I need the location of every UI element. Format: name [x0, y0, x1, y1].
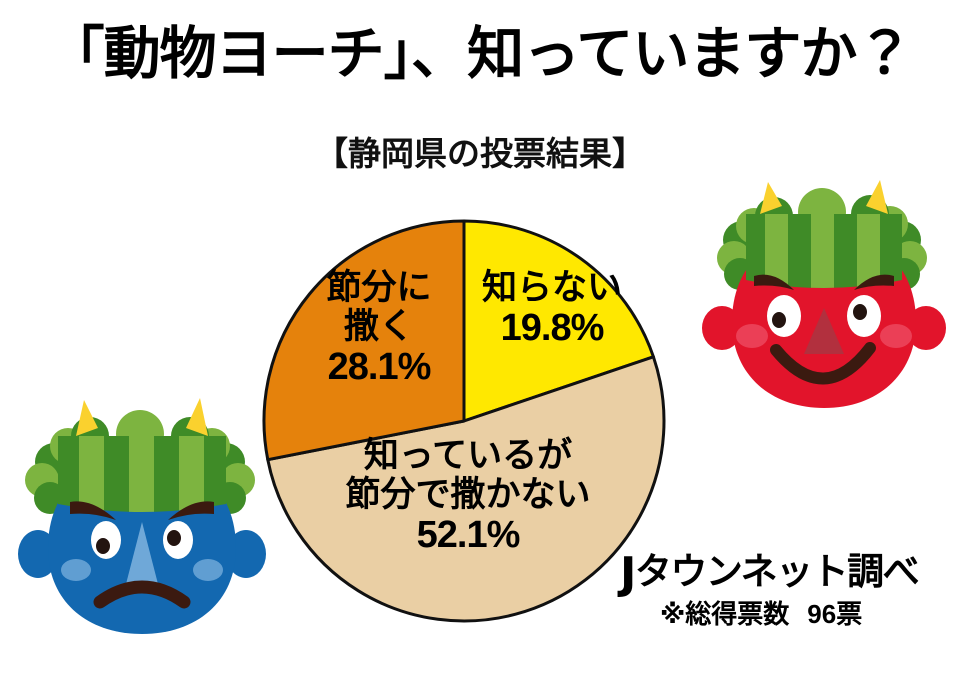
jtown-net-brand: Jタウンネット調べ	[616, 548, 946, 592]
pie-slice-3	[264, 221, 464, 460]
blue-oni-illustration	[8, 388, 276, 650]
total-votes-note: ※総得票数96票	[616, 601, 946, 627]
blue-oni-svg	[8, 388, 276, 650]
red-oni-illustration	[690, 168, 958, 430]
credit-block: Jタウンネット調べ ※総得票数96票	[616, 548, 946, 627]
pie-slice-group	[264, 221, 664, 621]
total-votes-label: ※総得票数	[660, 599, 789, 629]
page-title: 「動物ヨーチ」、知っていますか？	[0, 26, 960, 83]
pie-chart-svg	[258, 215, 670, 627]
red-oni-svg	[690, 168, 958, 430]
pie-chart	[258, 215, 670, 627]
poster-canvas: 「動物ヨーチ」、知っていますか？ 【静岡県の投票結果】 知らない 19.8% 節…	[0, 0, 960, 678]
jtown-net-brand-text: タウンネット調べ	[635, 551, 918, 592]
j-logo-icon: J	[620, 552, 635, 596]
total-votes-value: 96票	[807, 599, 862, 629]
page-subtitle: 【静岡県の投票結果】	[0, 137, 960, 170]
